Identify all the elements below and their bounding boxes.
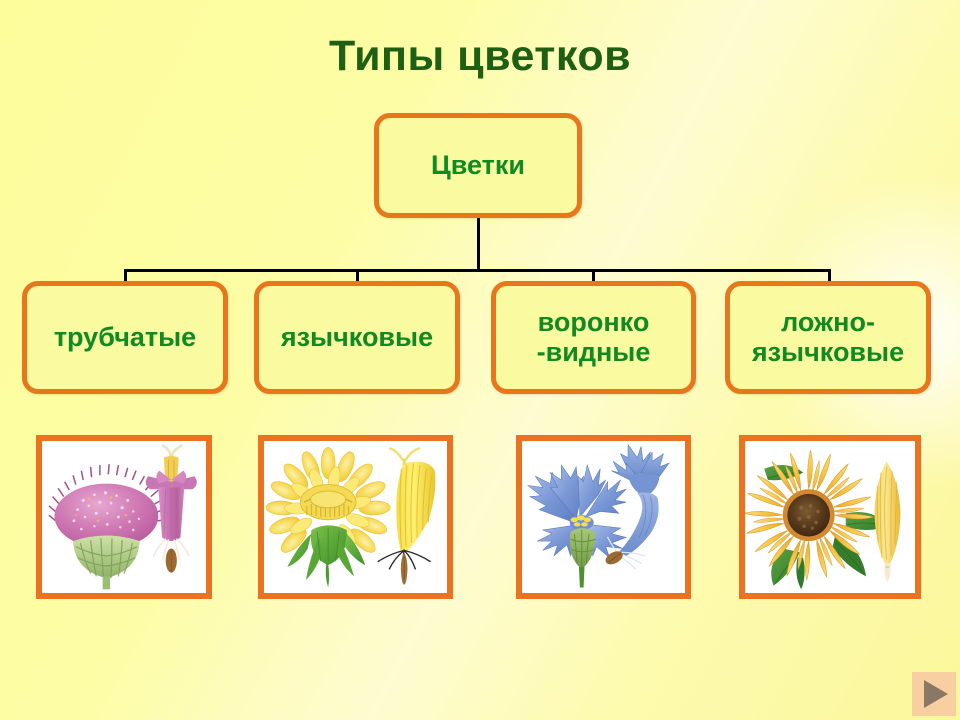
node-trubchatye-label: трубчатые [27,323,223,352]
node-trubchatye[interactable]: трубчатые [22,281,228,394]
node-lozhnoyazychkovye[interactable]: ложно- язычковые [725,281,931,394]
connector-root-stem [477,217,480,271]
cornflower-involucre [570,528,596,587]
ligulate-floret [378,448,435,584]
connector-horizontal-bar [124,269,831,272]
page-title: Типы цветков [0,32,960,81]
illustration-sunflower-false-ligulate [739,435,921,599]
next-slide-button[interactable] [912,672,956,716]
thistle-tubular-drawing [42,441,206,593]
dandelion-ligulate-drawing [264,441,447,593]
node-root-label: Цветки [379,151,577,180]
slide-canvas: Типы цветков Цветки трубчатые язычковые … [0,0,960,720]
illustration-dandelion-ligulate [258,435,453,599]
false-ligulate-floret [874,461,900,581]
node-root-flowers[interactable]: Цветки [374,113,582,218]
illustration-thistle-tubular [36,435,212,599]
illustration-cornflower-funnel [516,435,691,599]
node-voronkovidnye[interactable]: воронко -видные [491,281,696,394]
node-yazychkovye[interactable]: язычковые [254,281,460,394]
play-triangle-icon [924,680,948,708]
cornflower-funnel-drawing [522,441,685,593]
node-voronkovidnye-label: воронко -видные [496,308,691,366]
node-yazychkovye-label: язычковые [259,323,455,352]
sunflower-false-ligulate-drawing [745,441,915,593]
thistle-involucre [73,536,140,590]
node-lozhnoyazychkovye-label: ложно- язычковые [730,308,926,366]
funnel-floret [603,445,668,569]
